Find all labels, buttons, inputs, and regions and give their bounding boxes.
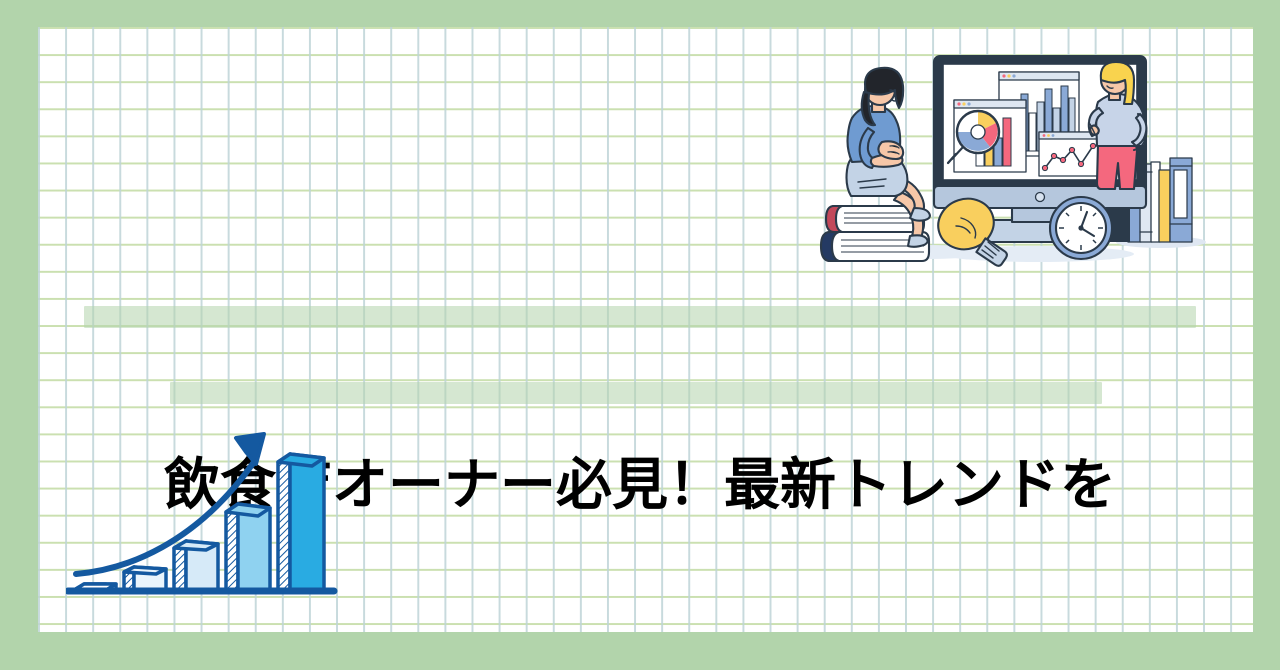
growth-bar-5: [278, 454, 324, 590]
growth-bar-2: [124, 567, 166, 590]
growth-bar-chart: [66, 424, 338, 614]
growth-bar-3: [174, 541, 218, 590]
growth-bar-4: [226, 504, 270, 590]
banner-canvas: .ol{fill:none;stroke:#2b3a4a;stroke-widt…: [0, 0, 1280, 670]
